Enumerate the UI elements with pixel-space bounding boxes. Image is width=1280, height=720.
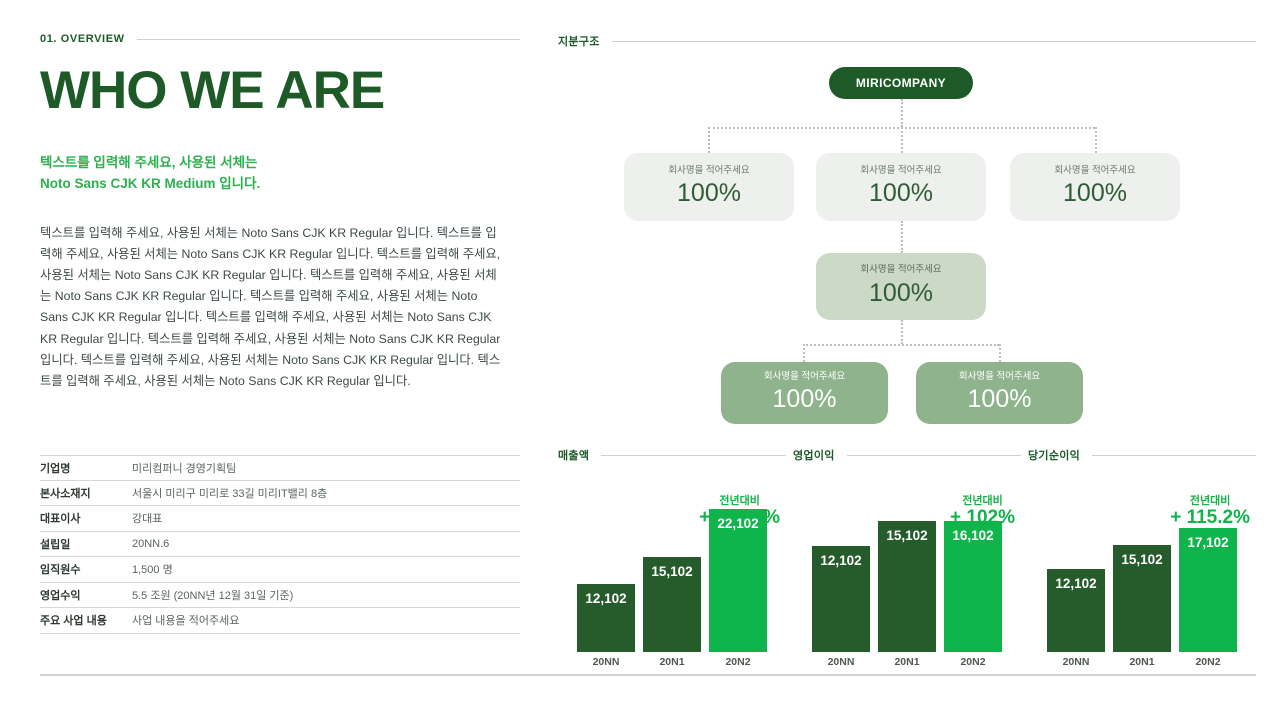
header-rule — [137, 39, 520, 40]
bar-group: 12,102 20NN — [812, 546, 870, 652]
row-label: 영업수익 — [40, 587, 132, 603]
bar-category-label: 20N2 — [709, 656, 767, 668]
node-company-name: 회사명을 적어주세요 — [764, 371, 845, 382]
table-row: 주요 사업 내용 사업 내용을 적어주세요 — [40, 608, 520, 634]
node-company-name: MIRICOMPANY — [856, 76, 946, 90]
table-row: 영업수익 5.5 조원 (20NN년 12월 31일 기준) — [40, 583, 520, 609]
bar-group: 15,102 20N1 — [1113, 545, 1171, 652]
connector-line — [901, 320, 903, 344]
node-percent: 100% — [968, 384, 1032, 415]
body-paragraph: 텍스트를 입력해 주세요, 사용된 서체는 Noto Sans CJK KR R… — [40, 223, 507, 392]
connector-line — [803, 344, 805, 362]
bar-group: 16,102 20N2 — [944, 521, 1002, 652]
node-company-name: 회사명을 적어주세요 — [959, 371, 1040, 382]
bar-value-label[interactable]: 12,102 — [577, 584, 635, 652]
row-value: 1,500 명 — [132, 561, 173, 577]
connector-line — [901, 127, 903, 153]
bar-group: 15,102 20N1 — [878, 521, 936, 652]
connector-line — [803, 344, 999, 346]
row-value: 20NN.6 — [132, 538, 169, 550]
chart-plot-area: 전년대비 + 115.2% 12,102 20NN 15,102 20N1 17… — [1028, 469, 1256, 674]
row-label: 임직원수 — [40, 561, 132, 577]
chart-bars: 12,102 20NN 15,102 20N1 17,102 20N2 — [1028, 492, 1256, 652]
org-chart-canvas: MIRICOMPANY 회사명을 적어주세요 100% 회사명을 적어주세요 1… — [558, 53, 1256, 433]
chart-net-income: 당기순이익 전년대비 + 115.2% 12,102 20NN 15,102 2… — [1028, 447, 1256, 674]
row-label: 대표이사 — [40, 510, 132, 526]
node-company-name: 회사명을 적어주세요 — [1054, 165, 1135, 176]
node-percent: 100% — [773, 384, 837, 415]
chart-header: 영업이익 — [793, 447, 1021, 463]
table-row: 임직원수 1,500 명 — [40, 557, 520, 583]
bar-value-label[interactable]: 15,102 — [643, 557, 701, 652]
chart-title: 영업이익 — [793, 447, 835, 463]
connector-line — [901, 99, 903, 127]
node-percent: 100% — [677, 178, 741, 209]
row-value: 서울시 미리구 미리로 33길 미리IT밸리 8층 — [132, 485, 327, 501]
row-value: 5.5 조원 (20NN년 12월 31일 기준) — [132, 587, 293, 603]
chart-header: 매출액 — [558, 447, 786, 463]
bar-category-label: 20N2 — [944, 656, 1002, 668]
row-value: 미리컴퍼니 경영기획팀 — [132, 460, 236, 476]
overview-section-header: 01. OVERVIEW — [40, 33, 520, 45]
row-label: 주요 사업 내용 — [40, 612, 132, 628]
connector-line — [999, 344, 1001, 362]
bar-group: 17,102 20N2 — [1179, 528, 1237, 652]
bar-group: 15,102 20N1 — [643, 557, 701, 652]
bar-category-label: 20NN — [812, 656, 870, 668]
bar-value-label[interactable]: 12,102 — [1047, 569, 1105, 652]
connector-line — [901, 221, 903, 253]
chart-title: 당기순이익 — [1028, 447, 1080, 463]
chart-operating-profit: 영업이익 전년대비 + 102% 12,102 20NN 15,102 20N1 — [793, 447, 1021, 674]
node-company-name: 회사명을 적어주세요 — [860, 264, 941, 275]
org-node-root[interactable]: MIRICOMPANY — [829, 67, 973, 99]
chart-header: 당기순이익 — [1028, 447, 1256, 463]
table-row: 기업명 미리컴퍼니 경영기획팀 — [40, 455, 520, 481]
org-node-subsidiary-6[interactable]: 회사명을 적어주세요 100% — [916, 362, 1083, 424]
bar-value-label[interactable]: 22,102 — [709, 509, 767, 652]
header-rule — [612, 41, 1256, 42]
bar-category-label: 20N1 — [643, 656, 701, 668]
table-row: 대표이사 강대표 — [40, 506, 520, 532]
bar-value-label[interactable]: 15,102 — [878, 521, 936, 652]
chart-bars: 12,102 20NN 15,102 20N1 16,102 20N2 — [793, 492, 1021, 652]
chart-revenue: 매출액 전년대비 + 125.2% 12,102 20NN 15,102 20N… — [558, 447, 786, 674]
bar-category-label: 20NN — [1047, 656, 1105, 668]
org-node-subsidiary-1[interactable]: 회사명을 적어주세요 100% — [624, 153, 794, 221]
row-label: 설립일 — [40, 536, 132, 552]
chart-plot-area: 전년대비 + 125.2% 12,102 20NN 15,102 20N1 22… — [558, 469, 786, 674]
bar-group: 22,102 20N2 — [709, 509, 767, 652]
footer-divider — [40, 674, 1256, 676]
row-label: 본사소재지 — [40, 485, 132, 501]
ownership-section-header: 지분구조 — [558, 33, 1256, 49]
bar-category-label: 20N2 — [1179, 656, 1237, 668]
company-info-table: 기업명 미리컴퍼니 경영기획팀 본사소재지 서울시 미리구 미리로 33길 미리… — [40, 455, 520, 634]
header-rule — [1092, 455, 1256, 456]
lead-text: 텍스트를 입력해 주세요, 사용된 서체는 Noto Sans CJK KR M… — [40, 153, 520, 195]
node-percent: 100% — [869, 278, 933, 309]
bar-group: 12,102 20NN — [1047, 569, 1105, 652]
chart-plot-area: 전년대비 + 102% 12,102 20NN 15,102 20N1 16,1… — [793, 469, 1021, 674]
bar-group: 12,102 20NN — [577, 584, 635, 652]
row-label: 기업명 — [40, 460, 132, 476]
node-percent: 100% — [1063, 178, 1127, 209]
lead-line-2: Noto Sans CJK KR Medium 입니다. — [40, 174, 520, 195]
bar-category-label: 20NN — [577, 656, 635, 668]
row-value: 강대표 — [132, 510, 162, 526]
table-row: 설립일 20NN.6 — [40, 532, 520, 558]
bar-category-label: 20N1 — [878, 656, 936, 668]
bar-value-label[interactable]: 12,102 — [812, 546, 870, 652]
chart-title: 매출액 — [558, 447, 589, 463]
org-node-subsidiary-5[interactable]: 회사명을 적어주세요 100% — [721, 362, 888, 424]
bar-category-label: 20N1 — [1113, 656, 1171, 668]
node-company-name: 회사명을 적어주세요 — [860, 165, 941, 176]
header-rule — [601, 455, 786, 456]
bar-value-label[interactable]: 17,102 — [1179, 528, 1237, 652]
page-title: WHO WE ARE — [40, 64, 520, 117]
bar-value-label[interactable]: 15,102 — [1113, 545, 1171, 652]
node-company-name: 회사명을 적어주세요 — [668, 165, 749, 176]
org-node-subsidiary-2[interactable]: 회사명을 적어주세요 100% — [816, 153, 986, 221]
connector-line — [1095, 127, 1097, 153]
connector-line — [708, 127, 710, 153]
overview-column: 01. OVERVIEW WHO WE ARE 텍스트를 입력해 주세요, 사용… — [40, 33, 520, 392]
financial-charts-row: 매출액 전년대비 + 125.2% 12,102 20NN 15,102 20N… — [558, 447, 1256, 674]
table-row: 본사소재지 서울시 미리구 미리로 33길 미리IT밸리 8층 — [40, 481, 520, 507]
ownership-section-label: 지분구조 — [558, 33, 600, 49]
node-percent: 100% — [869, 178, 933, 209]
bar-value-label[interactable]: 16,102 — [944, 521, 1002, 652]
lead-line-1: 텍스트를 입력해 주세요, 사용된 서체는 — [40, 153, 520, 174]
header-rule — [847, 455, 1021, 456]
slide-page: 01. OVERVIEW WHO WE ARE 텍스트를 입력해 주세요, 사용… — [0, 0, 1280, 720]
ownership-structure-section: 지분구조 MIRICOMPANY 회사명을 적어주세 — [558, 33, 1256, 433]
chart-bars: 12,102 20NN 15,102 20N1 22,102 20N2 — [558, 492, 786, 652]
overview-section-label: 01. OVERVIEW — [40, 33, 125, 45]
org-node-subsidiary-3[interactable]: 회사명을 적어주세요 100% — [1010, 153, 1180, 221]
row-value: 사업 내용을 적어주세요 — [132, 612, 239, 628]
org-node-subsidiary-4[interactable]: 회사명을 적어주세요 100% — [816, 253, 986, 320]
